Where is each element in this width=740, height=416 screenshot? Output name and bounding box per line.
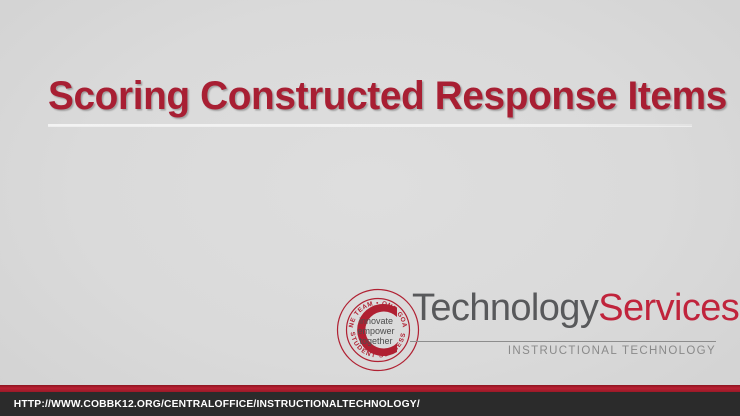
page-title: Scoring Constructed Response Items (48, 72, 677, 120)
presentation-slide: Scoring Constructed Response Items ONE T… (0, 0, 740, 416)
wordmark-primary: Technology (412, 287, 598, 329)
title-block: Scoring Constructed Response Items (48, 72, 696, 126)
footer-accent-stripe (0, 385, 740, 392)
title-divider (48, 124, 692, 126)
wordmark-secondary: Services (598, 287, 739, 329)
svg-text:together: together (359, 336, 392, 346)
svg-text:innovate: innovate (359, 316, 393, 326)
wordmark-subtitle: INSTRUCTIONAL TECHNOLOGY (410, 345, 716, 357)
wordmark-divider (410, 341, 716, 342)
wordmark-text: TechnologyServices (412, 285, 720, 331)
svg-text:empower: empower (357, 326, 394, 336)
organization-logo: ONE TEAM • ONE GOAL STUDENT SUCCESS inno… (336, 285, 720, 377)
seal-emblem-icon: ONE TEAM • ONE GOAL STUDENT SUCCESS inno… (336, 288, 420, 372)
footer-bar: HTTP://WWW.COBBK12.ORG/CENTRALOFFICE/INS… (0, 392, 740, 416)
wordmark: TechnologyServices (412, 285, 720, 331)
footer-url-text[interactable]: HTTP://WWW.COBBK12.ORG/CENTRALOFFICE/INS… (0, 398, 420, 410)
